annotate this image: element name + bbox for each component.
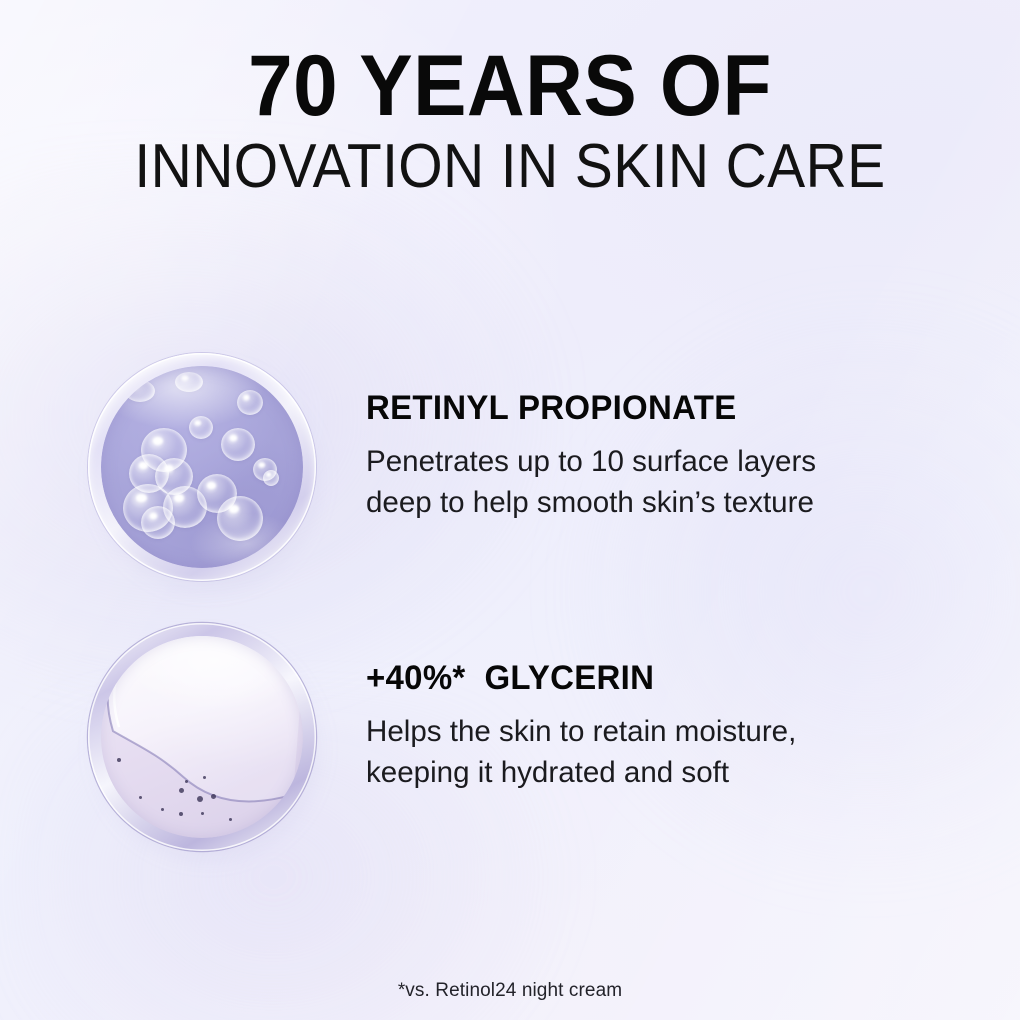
gel-speck: [161, 808, 164, 811]
petri-dish: [88, 623, 316, 851]
dish-liquid-area: [101, 366, 303, 568]
gel-speck: [185, 780, 188, 783]
headline-block: 70 YEARS OF INNOVATION IN SKIN CARE: [0, 44, 1020, 198]
bubble: [221, 428, 255, 461]
gel-speck: [179, 788, 184, 793]
petri-dish-bubbles-image: [88, 353, 316, 581]
gel-speck: [203, 776, 206, 779]
gel-speck: [117, 758, 121, 762]
bubble: [217, 496, 263, 541]
dish-gel-area: [101, 636, 303, 838]
gel-speck: [197, 796, 203, 802]
feature-text-block: RETINYL PROPIONATE Penetrates up to 10 s…: [366, 389, 966, 524]
feature-row-retinyl-propionate: RETINYL PROPIONATE Penetrates up to 10 s…: [0, 353, 1020, 585]
headline-primary: 70 YEARS OF: [36, 44, 985, 128]
bubble: [141, 506, 175, 539]
headline-secondary: INNOVATION IN SKIN CARE: [41, 136, 979, 198]
feature-description: Helps the skin to retain moisture, keepi…: [366, 712, 957, 794]
petri-dish: [88, 353, 316, 581]
bubble: [175, 372, 203, 392]
feature-row-glycerin: +40%* GLYCERIN Helps the skin to retain …: [0, 623, 1020, 855]
gel-speck: [179, 812, 183, 816]
bubble: [237, 390, 263, 415]
feature-title: +40%* GLYCERIN: [366, 659, 948, 698]
promo-poster: 70 YEARS OF INNOVATION IN SKIN CARE: [0, 0, 1020, 1020]
feature-text-block: +40%* GLYCERIN Helps the skin to retain …: [366, 659, 966, 794]
feature-title: RETINYL PROPIONATE: [366, 389, 948, 428]
petri-dish-gel-image: [88, 623, 316, 851]
gel-speck: [211, 794, 216, 799]
bubble: [189, 416, 213, 439]
feature-description: Penetrates up to 10 surface layers deep …: [366, 442, 957, 524]
bubble: [263, 470, 279, 486]
gel-speck: [201, 812, 204, 815]
bubble: [125, 380, 155, 402]
gel-blob-shape: [101, 636, 303, 838]
gel-speck: [229, 818, 232, 821]
gel-speck: [139, 796, 142, 799]
footnote-disclaimer: *vs. Retinol24 night cream: [0, 980, 1020, 1002]
